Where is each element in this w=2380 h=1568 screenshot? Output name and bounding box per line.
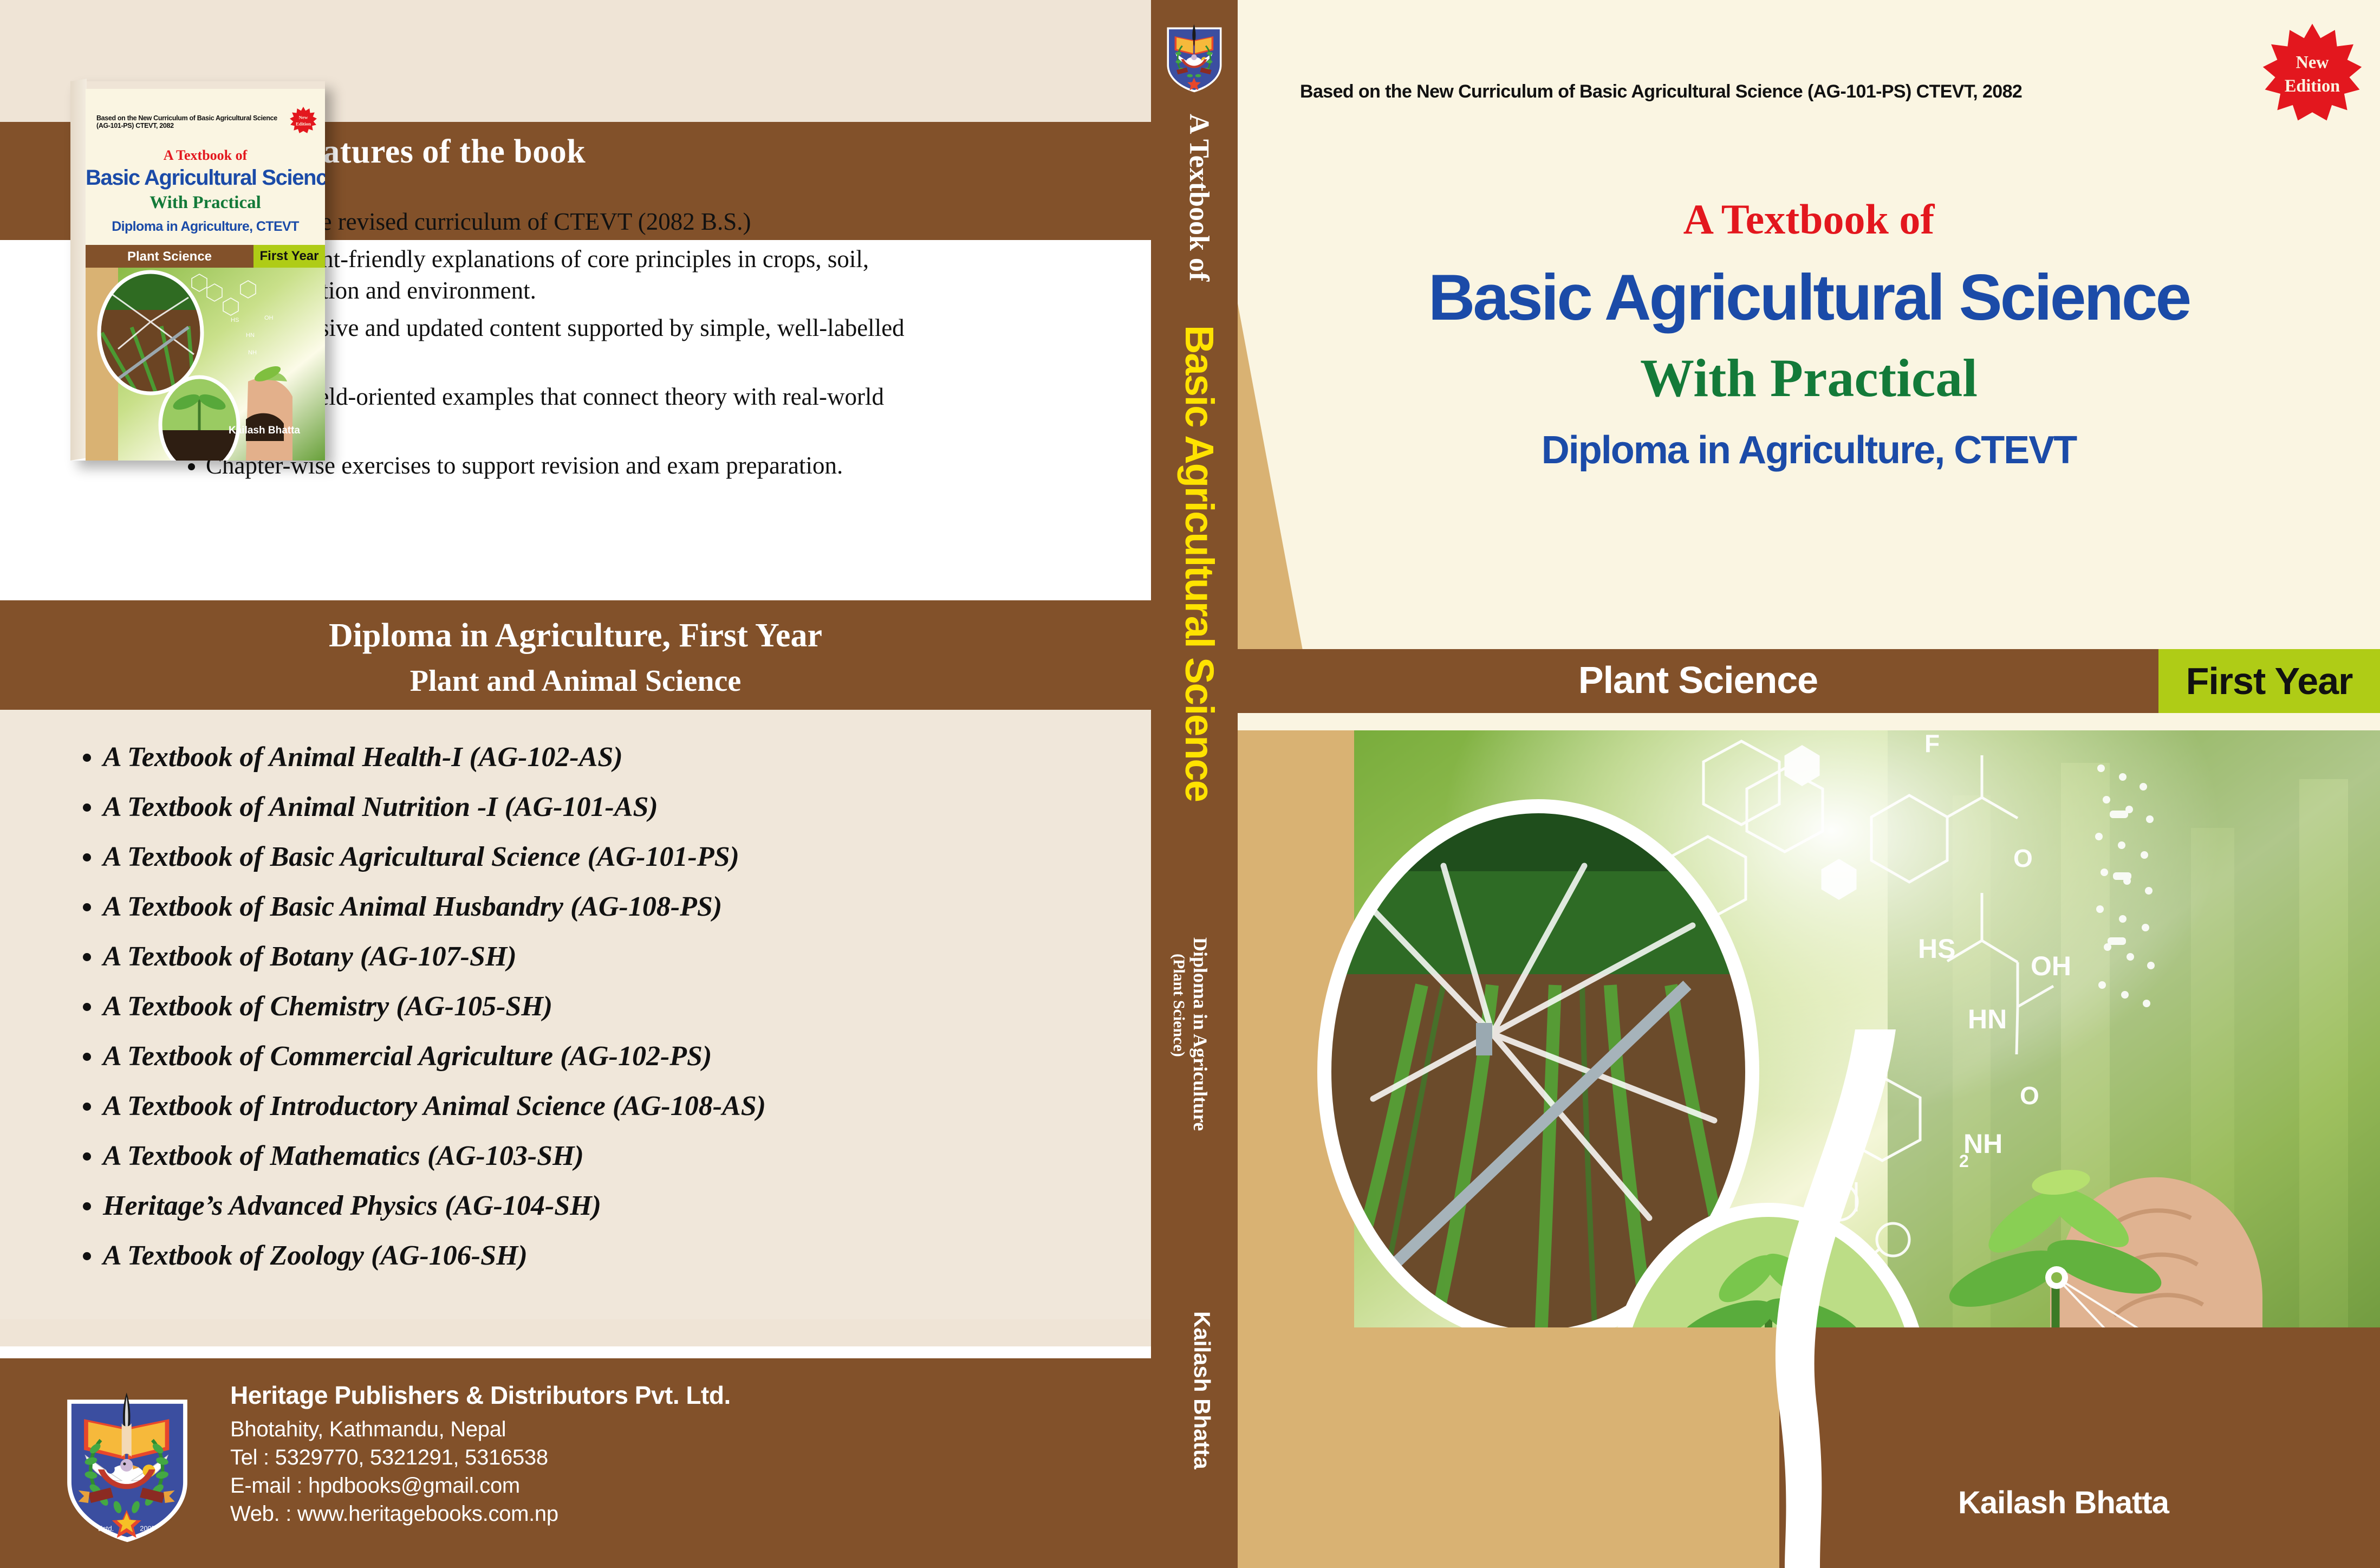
svg-text:NH: NH [248, 349, 257, 356]
svg-text:F: F [1924, 730, 1940, 757]
list-item: Heritage’s Advanced Physics (AG-104-SH) [103, 1192, 1078, 1220]
thumbnail-new-edition-badge: New Edition [289, 106, 317, 134]
svg-text:HS: HS [1918, 934, 1955, 964]
logo-estd-label: Estd. [98, 1525, 114, 1533]
list-item: A Textbook of Basic Agricultural Science… [103, 843, 1078, 871]
list-item: A Textbook of Introductory Animal Scienc… [103, 1092, 1078, 1120]
front-title-sub: With Practical [1238, 347, 2380, 409]
list-item: A Textbook of Zoology (AG-106-SH) [103, 1242, 1078, 1270]
spine-program: Diploma in Agriculture [1189, 937, 1212, 1131]
publisher-white-rule [0, 1346, 1151, 1358]
series-heading-line1: Diploma in Agriculture, First Year [0, 617, 1151, 655]
thumbnail-stream-label: Plant Science [86, 249, 253, 264]
book-cover-spread: Salient features of the book Based on th… [0, 0, 2380, 1568]
logo-estd-year: 2005 [140, 1525, 155, 1533]
front-stream-label: Plant Science [1238, 658, 2158, 702]
thumbnail-year-block: First Year [253, 245, 325, 268]
thumbnail-badge-line1: New [299, 114, 308, 120]
thumbnail-curriculum-line: Based on the New Curriculum of Basic Agr… [96, 115, 281, 130]
thumbnail-front-face: Based on the New Curriculum of Basic Agr… [86, 89, 325, 461]
spine-stream: (Plant Science) [1169, 954, 1188, 1057]
publisher-logo: Estd. 2005 [57, 1387, 198, 1544]
list-item: A Textbook of Botany (AG-107-SH) [103, 943, 1078, 971]
thumbnail-author: Kailash Bhatta [216, 425, 313, 437]
related-books-list: A Textbook of Animal Health-I (AG-102-AS… [70, 743, 1078, 1292]
badge-line1: New [2296, 53, 2330, 72]
front-author-name: Kailash Bhatta [1958, 1485, 2261, 1521]
front-year-block: First Year [2158, 649, 2380, 713]
thumbnail-badge-line2: Edition [296, 121, 311, 126]
publisher-name: Heritage Publishers & Distributors Pvt. … [230, 1381, 1043, 1410]
series-heading-line2: Plant and Animal Science [0, 664, 1151, 698]
back-cover: Salient features of the book Based on th… [0, 0, 1151, 1568]
publisher-address: Bhotahity, Kathmandu, Nepal [230, 1415, 1043, 1443]
thumbnail-title-sub: With Practical [86, 193, 325, 213]
publisher-cream-strip [0, 1319, 1151, 1346]
book-spine: A Textbook of Basic Agricultural Science… [1151, 0, 1238, 1568]
book-thumbnail-mockup: Based on the New Curriculum of Basic Agr… [70, 81, 325, 461]
publisher-website: Web. : www.heritagebooks.com.np [230, 1500, 1043, 1528]
spine-title-pre: A Textbook of [1183, 114, 1215, 281]
badge-line2: Edition [2285, 76, 2340, 95]
spine-title-main: Basic Agricultural Science [1176, 325, 1222, 801]
svg-text:O: O [2013, 844, 2033, 872]
thumbnail-title-program: Diploma in Agriculture, CTEVT [86, 219, 325, 235]
front-cover: Based on the New Curriculum of Basic Agr… [1238, 0, 2380, 1568]
publisher-telephone: Tel : 5329770, 5321291, 5316538 [230, 1443, 1043, 1472]
thumbnail-spine-side [70, 79, 87, 461]
list-item: A Textbook of Animal Nutrition -I (AG-10… [103, 793, 1078, 821]
front-title-main: Basic Agricultural Science [1238, 260, 2380, 335]
list-item: A Textbook of Chemistry (AG-105-SH) [103, 993, 1078, 1021]
svg-text:HS: HS [231, 317, 239, 323]
svg-text:OH: OH [264, 315, 274, 321]
list-item: A Textbook of Animal Health-I (AG-102-AS… [103, 743, 1078, 772]
thumbnail-year-label: First Year [253, 245, 325, 268]
thumbnail-title-pre: A Textbook of [86, 147, 325, 164]
new-edition-badge: New Edition [2261, 22, 2364, 125]
list-item: A Textbook of Basic Animal Husbandry (AG… [103, 893, 1078, 921]
publisher-info: Heritage Publishers & Distributors Pvt. … [230, 1381, 1043, 1528]
front-title-program: Diploma in Agriculture, CTEVT [1238, 428, 2380, 472]
front-curriculum-line: Based on the New Curriculum of Basic Agr… [1300, 81, 2167, 102]
svg-text:HN: HN [246, 332, 255, 339]
spine-publisher-logo [1159, 22, 1230, 93]
thumbnail-title-main: Basic Agricultural Science [86, 166, 325, 190]
svg-text:OH: OH [2031, 951, 2071, 981]
spine-author: Kailash Bhatta [1189, 1311, 1215, 1469]
list-item: A Textbook of Mathematics (AG-103-SH) [103, 1142, 1078, 1170]
front-year-label: First Year [2158, 649, 2380, 713]
front-title-pre: A Textbook of [1238, 195, 2380, 244]
list-item: A Textbook of Commercial Agriculture (AG… [103, 1042, 1078, 1071]
publisher-email: E-mail : hpdbooks@gmail.com [230, 1472, 1043, 1500]
